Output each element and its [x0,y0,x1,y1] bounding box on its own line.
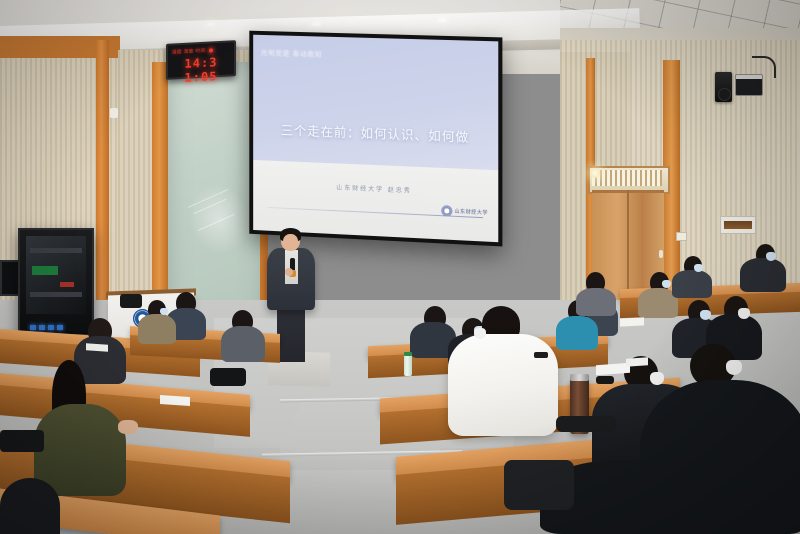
doorknob-icon[interactable] [659,250,663,258]
attendee-body [221,326,265,362]
attendee-body [672,270,712,298]
attendee-white-puffer-jacket [448,334,558,436]
chair-back [120,294,142,308]
lecture-hall-photo: 光明党建 春动教知 三个走在前：如何认识、如何做 山东财经大学 赵忠秀 山东财经… [0,0,800,534]
wall-post-mid [152,62,168,324]
rack-shelf [30,292,82,297]
bottle-cap-icon [404,352,412,356]
door-transom-bars [592,170,662,186]
attendee-body-green-coat [34,404,126,496]
attendee-head-foreground [0,478,60,534]
face-mask-icon [700,310,711,320]
phone-device[interactable] [596,376,614,384]
wall-outlet-icon [676,232,687,241]
attendee-body-teal [556,316,598,350]
led-clock: 温度 湿度 时间 14:3 1:05 [166,40,236,80]
rack-button-row[interactable] [30,325,63,330]
attendee-body-tan [138,314,176,344]
paper-sheet [626,357,648,367]
rack-shelf [30,248,82,253]
slide-header-text: 光明党建 春动教知 [261,47,322,59]
face-mask-icon [650,372,664,385]
led-clock-label-text: 温度 湿度 时间 [172,48,206,56]
face-mask-icon [474,328,486,339]
face-mask-icon [766,252,776,261]
face-mask-icon [726,360,742,375]
attendee-body [740,258,786,292]
projection-screen: 光明党建 春动教知 三个走在前：如何认识、如何做 山东财经大学 赵忠秀 山东财经… [249,31,502,247]
wall-speaker [715,72,732,102]
water-bottle[interactable] [404,354,412,376]
chair-back [504,460,574,510]
face-mask-icon [160,308,168,315]
phone-device[interactable] [534,352,548,358]
slide-logo-text: 山东财经大学 [454,208,488,217]
wall-sensor-icon [110,108,118,118]
attendee-hand [118,420,138,434]
thermos-cap-icon [570,374,589,381]
presenter-face [283,234,298,250]
face-mask-icon [738,308,750,319]
presenter-hand [285,268,293,276]
rack-red-indicator [60,282,74,287]
led-indicator-icon [209,48,213,52]
paper-sheet [620,317,644,326]
attendee-body [576,288,616,316]
chair-back [210,368,246,386]
wall-right-trim [560,28,800,40]
equipment-rack[interactable] [18,228,94,336]
downlight-icon [312,22,321,26]
rack-green-unit [32,266,58,275]
led-clock-time: 14:3 1:05 [168,54,234,85]
paper-sheet [86,343,108,352]
chair-back [0,430,44,452]
chair-back [556,416,616,432]
wall-monitor [735,74,763,96]
face-mask-icon [694,264,703,272]
transom-lamp-icon [590,168,600,178]
downlight-icon [206,22,215,26]
university-seal-icon [441,205,452,217]
presenter-legs [277,306,305,362]
downlight-icon [438,18,447,22]
wall-vent [720,216,756,234]
face-mask-icon [662,280,671,288]
projection-slide: 光明党建 春动教知 三个走在前：如何认识、如何做 山东财经大学 赵忠秀 山东财经… [253,35,498,242]
slide-logo: 山东财经大学 [441,205,488,218]
